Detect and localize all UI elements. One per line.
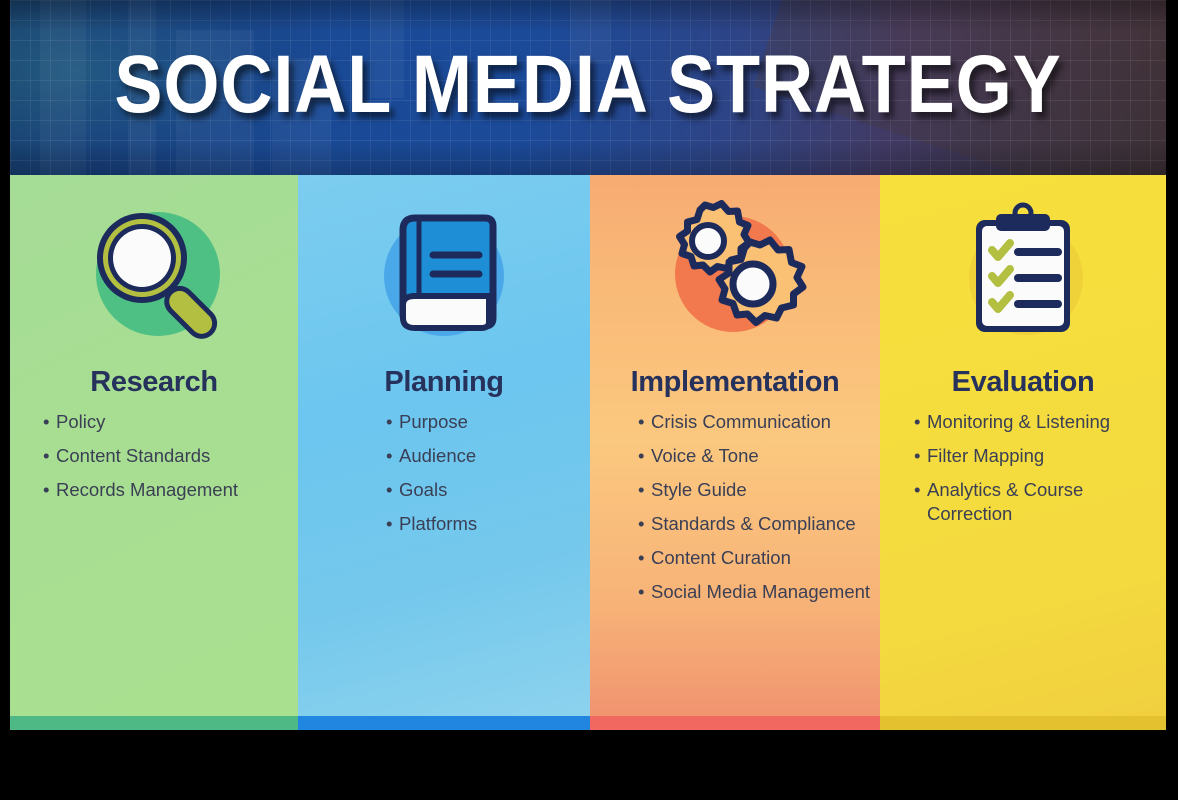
bullet-list-implementation: Crisis Communication Voice & Tone Style …	[638, 410, 873, 614]
column-title-implementation: Implementation	[590, 365, 880, 399]
list-item: Filter Mapping	[914, 444, 1159, 468]
clipboard-checklist-icon	[880, 197, 1166, 352]
page-title: SOCIAL MEDIA STRATEGY	[79, 42, 1096, 128]
frame-left	[0, 0, 10, 800]
list-item: Style Guide	[638, 478, 873, 502]
columns-container: Research Policy Content Standards Record…	[10, 175, 1166, 730]
list-item: Standards & Compliance	[638, 512, 873, 536]
list-item: Policy	[43, 410, 293, 434]
list-item: Platforms	[386, 512, 586, 536]
book-icon	[298, 197, 590, 352]
frame-right	[1166, 0, 1178, 800]
list-item: Records Management	[43, 478, 293, 502]
header-banner: SOCIAL MEDIA STRATEGY	[10, 0, 1166, 175]
list-item: Voice & Tone	[638, 444, 873, 468]
infographic-canvas: SOCIAL MEDIA STRATEGY	[10, 0, 1166, 730]
column-title-planning: Planning	[298, 365, 590, 399]
bullet-list-evaluation: Monitoring & Listening Filter Mapping An…	[914, 410, 1159, 536]
list-item: Audience	[386, 444, 586, 468]
bullet-list-research: Policy Content Standards Records Managem…	[43, 410, 293, 512]
bullet-list-planning: Purpose Audience Goals Platforms	[386, 410, 586, 546]
list-item: Monitoring & Listening	[914, 410, 1159, 434]
column-accent-evaluation	[880, 716, 1166, 730]
list-item: Content Curation	[638, 546, 873, 570]
column-title-evaluation: Evaluation	[880, 365, 1166, 399]
column-accent-planning	[298, 716, 590, 730]
list-item: Crisis Communication	[638, 410, 873, 434]
column-title-research: Research	[10, 365, 298, 399]
magnifying-glass-icon	[10, 197, 298, 352]
list-item: Social Media Management	[638, 580, 873, 604]
list-item: Content Standards	[43, 444, 293, 468]
infographic-root: SOCIAL MEDIA STRATEGY	[0, 0, 1178, 800]
list-item: Purpose	[386, 410, 586, 434]
column-research[interactable]: Research Policy Content Standards Record…	[10, 175, 298, 730]
frame-bottom	[0, 730, 1178, 800]
list-item: Goals	[386, 478, 586, 502]
column-planning[interactable]: Planning Purpose Audience Goals Platform…	[298, 175, 590, 730]
column-implementation[interactable]: Implementation Crisis Communication Voic…	[590, 175, 880, 730]
column-evaluation[interactable]: Evaluation Monitoring & Listening Filter…	[880, 175, 1166, 730]
gears-icon	[590, 197, 880, 352]
list-item: Analytics & Course Correction	[914, 478, 1159, 526]
column-accent-implementation	[590, 716, 880, 730]
column-accent-research	[10, 716, 298, 730]
